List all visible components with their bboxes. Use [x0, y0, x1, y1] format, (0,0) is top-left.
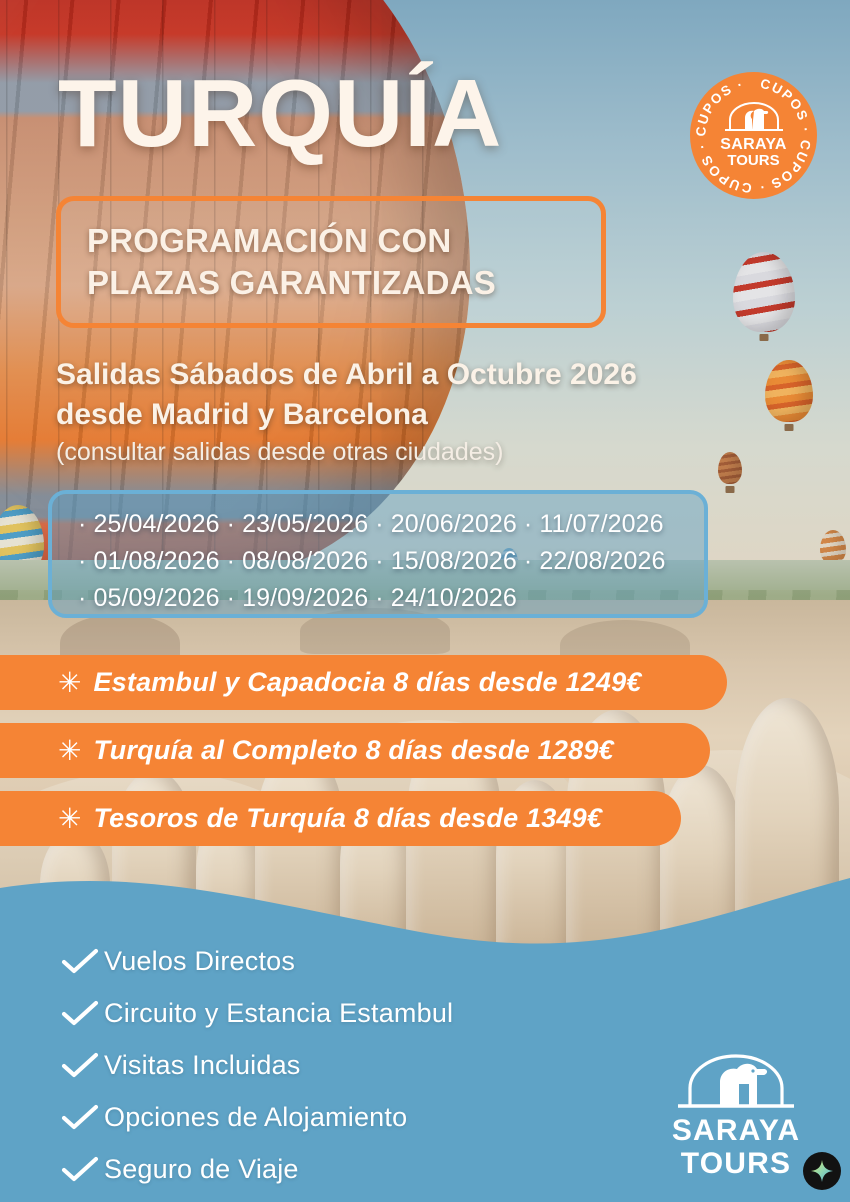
logo-line-1: SARAYA	[652, 1115, 820, 1147]
offer-bar[interactable]: ✳ Tesoros de Turquía 8 días desde 1349€	[0, 791, 681, 846]
dates-row: · 25/04/2026 · 23/05/2026 · 20/06/2026 ·…	[78, 506, 704, 543]
check-icon	[58, 998, 104, 1028]
dates-row: · 05/09/2026 · 19/09/2026 · 24/10/2026	[78, 580, 704, 617]
dates-box: · 25/04/2026 · 23/05/2026 · 20/06/2026 ·…	[48, 490, 708, 618]
badge-brand-line2: TOURS	[720, 153, 786, 169]
badge-brand-line1: SARAYA	[720, 137, 786, 153]
departures-line-1: Salidas Sábados de Abril a Octubre 2026	[56, 355, 816, 395]
offer-bar[interactable]: ✳ Estambul y Capadocia 8 días desde 1249…	[0, 655, 727, 710]
cupos-badge: CUPOS · CUPOS · CUPOS · CUPOS · CUPOS · …	[690, 72, 817, 199]
feature-label: Opciones de Alojamiento	[104, 1102, 407, 1133]
page-title: TURQUÍA	[58, 66, 502, 162]
departures-note: (consultar salidas desde otras ciudades)	[56, 438, 816, 467]
star-icon: ✳	[58, 737, 81, 765]
offer-label: Estambul y Capadocia 8 días desde 1249€	[93, 667, 641, 698]
feature-label: Vuelos Directos	[104, 946, 295, 977]
star-icon: ✳	[58, 669, 81, 697]
check-icon	[58, 1154, 104, 1184]
departures-line-2: desde Madrid y Barcelona	[56, 395, 816, 435]
feature-label: Circuito y Estancia Estambul	[104, 998, 453, 1029]
departures-block: Salidas Sábados de Abril a Octubre 2026 …	[56, 355, 816, 467]
list-item: Circuito y Estancia Estambul	[58, 987, 453, 1039]
ai-watermark	[803, 1152, 841, 1190]
hot-air-balloon-small	[820, 530, 846, 564]
features-list: Vuelos Directos Circuito y Estancia Esta…	[58, 935, 453, 1195]
feature-label: Visitas Incluidas	[104, 1050, 301, 1081]
check-icon	[58, 946, 104, 976]
offer-label: Tesoros de Turquía 8 días desde 1349€	[93, 803, 602, 834]
travel-poster: TURQUÍA CUPOS · CUPOS · CUPOS · CUPOS · …	[0, 0, 850, 1202]
footer-logo: SARAYA TOURS	[652, 1052, 820, 1181]
feature-label: Seguro de Viaje	[104, 1154, 299, 1185]
list-item: Vuelos Directos	[58, 935, 453, 987]
badge-core: SARAYA TOURS	[720, 102, 786, 169]
guarantee-line-2: PLAZAS GARANTIZADAS	[87, 262, 601, 304]
offer-label: Turquía al Completo 8 días desde 1289€	[93, 735, 613, 766]
camel-arch-icon	[723, 102, 785, 132]
guaranteed-seats-box: PROGRAMACIÓN CON PLAZAS GARANTIZADAS	[56, 196, 606, 328]
logo-line-2: TOURS	[652, 1147, 820, 1181]
check-icon	[58, 1102, 104, 1132]
list-item: Visitas Incluidas	[58, 1039, 453, 1091]
check-icon	[58, 1050, 104, 1080]
offer-bar[interactable]: ✳ Turquía al Completo 8 días desde 1289€	[0, 723, 710, 778]
list-item: Opciones de Alojamiento	[58, 1091, 453, 1143]
camel-arch-icon	[676, 1052, 796, 1110]
dates-row: · 01/08/2026 · 08/08/2026 · 15/08/2026 ·…	[78, 543, 704, 580]
star-icon: ✳	[58, 805, 81, 833]
list-item: Seguro de Viaje	[58, 1143, 453, 1195]
ai-sparkle-icon	[810, 1159, 834, 1183]
guarantee-line-1: PROGRAMACIÓN CON	[87, 220, 601, 262]
